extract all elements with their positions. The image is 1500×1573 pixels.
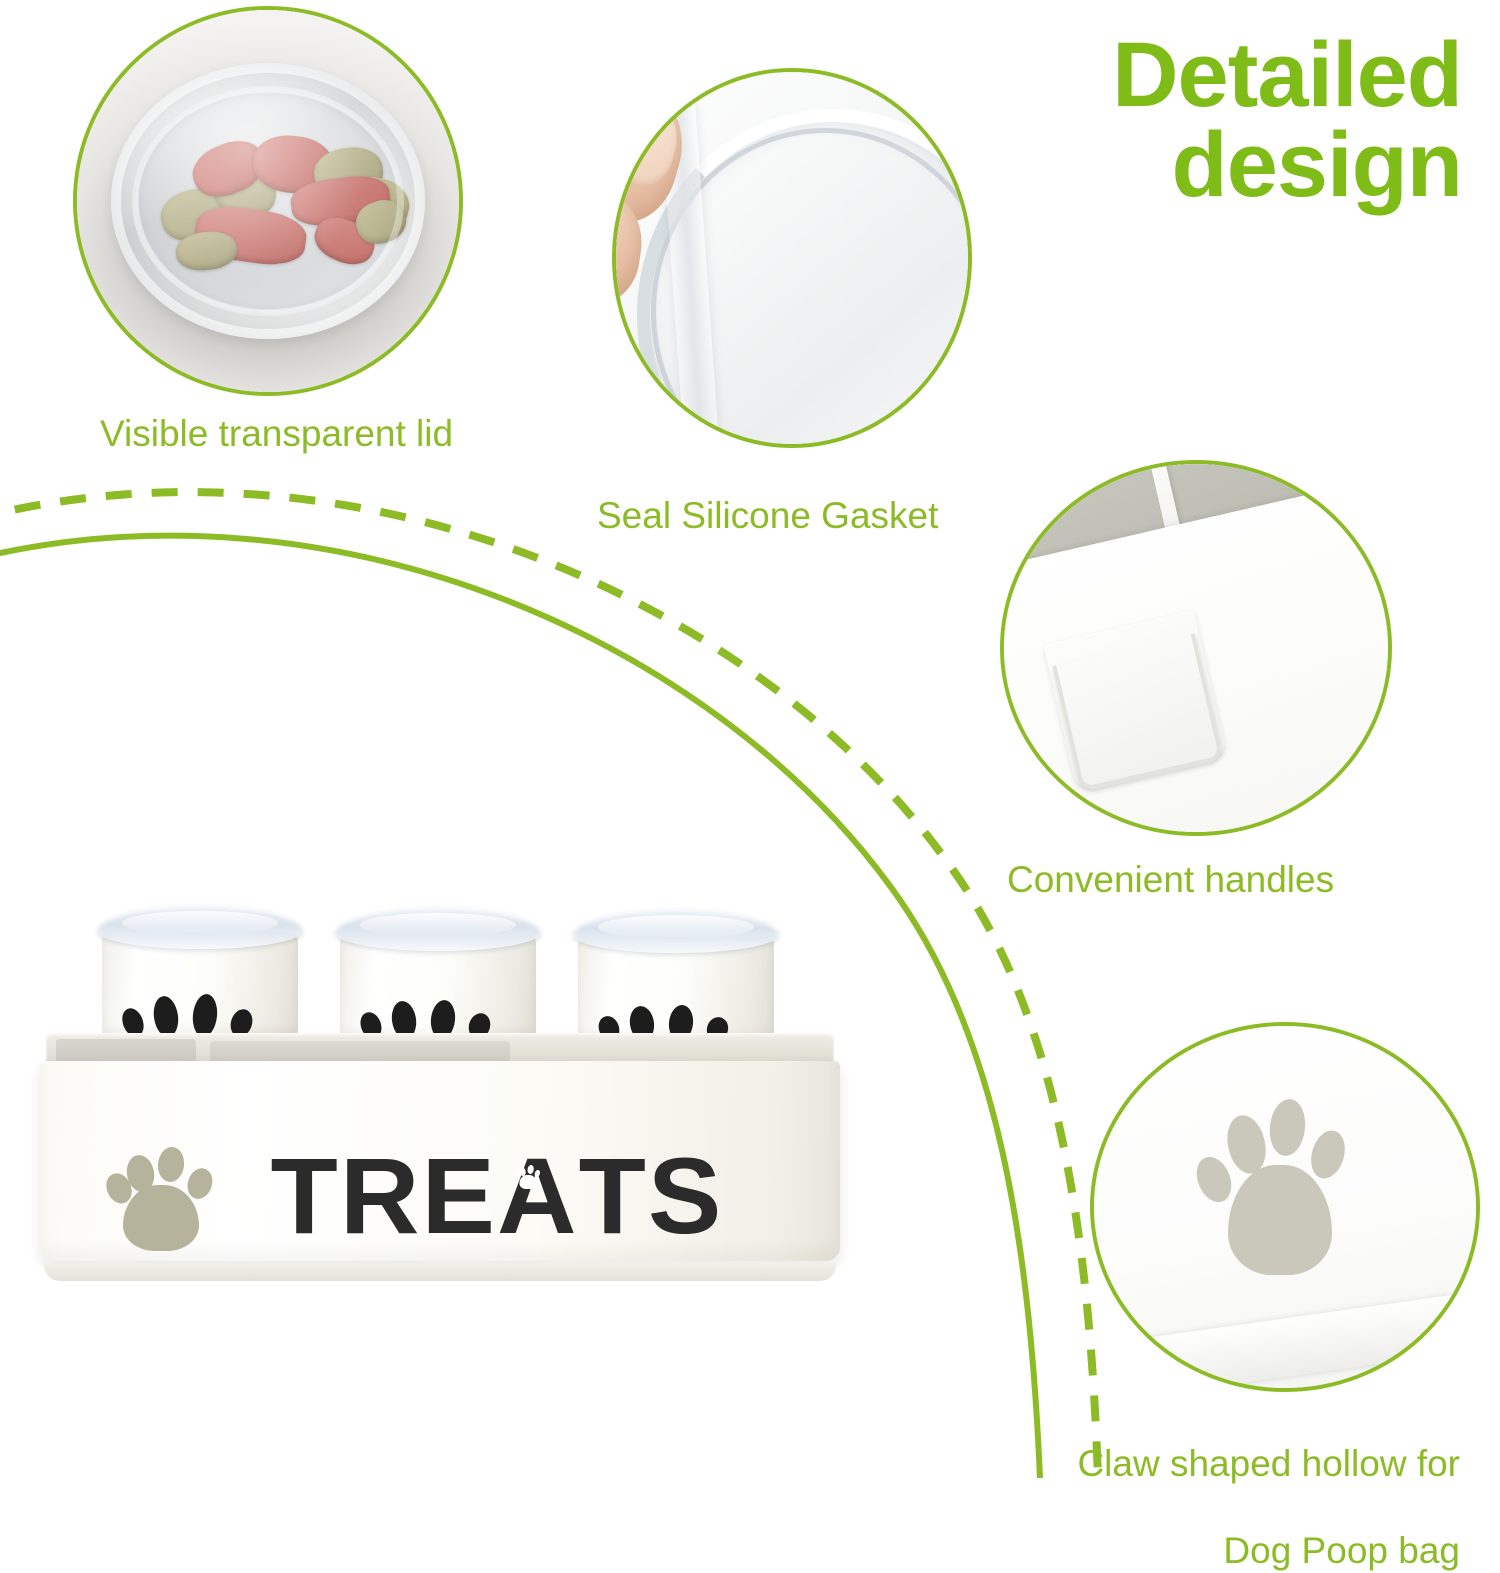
product-label-part-1: TRE [271,1135,497,1256]
feature-image-silicone-gasket [612,68,972,448]
infographic-canvas: Detailed design Visible transparent lid [0,0,1500,1478]
paw-cutout-icon-1 [118,981,268,1037]
paw-print-icon-inside-a [516,1164,540,1190]
caption-silicone-gasket: Seal Silicone Gasket [597,494,938,538]
feature-image-transparent-lid [73,6,463,396]
caption-claw-hollow: Claw shaped hollow for Dog Poop bag [1040,1398,1460,1573]
feature-image-convenient-handles [1000,460,1392,836]
caption-transparent-lid: Visible transparent lid [100,412,453,456]
paw-cutout-icon-2 [356,985,506,1039]
canister-2 [340,907,536,1037]
paw-print-icon [1201,1091,1369,1286]
feature-image-claw-hollow [1090,1022,1480,1392]
product-label-letter-a: A [497,1135,579,1256]
caption-claw-hollow-line-2: Dog Poop bag [1223,1530,1460,1571]
product-label-letter-a-wrap: A [497,1142,579,1250]
canister-1 [102,905,298,1035]
caption-convenient-handles: Convenient handles [1007,858,1334,902]
product-label-treats: TREA TS [271,1142,724,1250]
paw-print-icon-tray [108,1138,220,1256]
canister-3 [578,909,774,1039]
product-label-part-2: TS [579,1135,724,1256]
